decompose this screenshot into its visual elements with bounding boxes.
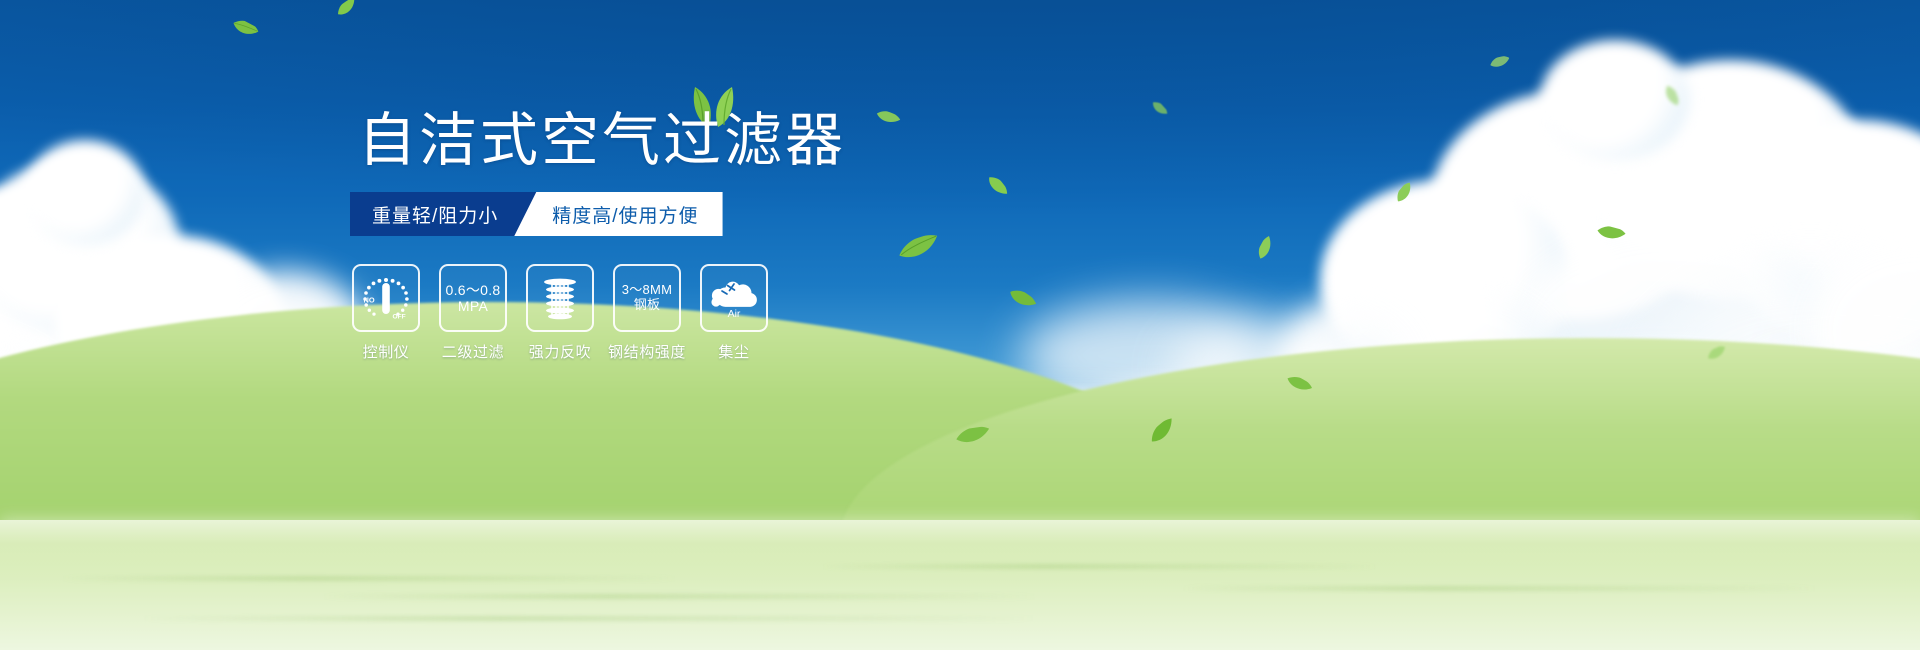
feature-list: NO OFF 控制仪 0.6～0.8 MPA 二级过滤 bbox=[352, 264, 768, 362]
feature-item-dust-collection[interactable]: Air 集尘 bbox=[700, 264, 768, 362]
subtitle-tab-group: 重量轻/阻力小 精度高/使用方便 bbox=[350, 192, 723, 236]
feature-item-controller[interactable]: NO OFF 控制仪 bbox=[352, 264, 420, 362]
hero-banner: 自洁式空气过滤器 重量轻/阻力小 精度高/使用方便 bbox=[0, 0, 1920, 650]
feature-item-two-stage-filter[interactable]: 0.6～0.8 MPA 二级过滤 bbox=[439, 264, 507, 362]
feature-label: 二级过滤 bbox=[442, 341, 504, 362]
feature-icon-box: 0.6～0.8 MPA bbox=[439, 264, 507, 332]
feature-icon-box bbox=[526, 264, 594, 332]
power-dial-icon: NO OFF bbox=[361, 274, 411, 322]
pressure-text-icon: 0.6～0.8 MPA bbox=[445, 282, 500, 314]
cloud-air-icon: Air bbox=[707, 275, 761, 321]
pressure-unit: MPA bbox=[445, 298, 500, 314]
feature-icon-box: Air bbox=[700, 264, 768, 332]
steel-plate-text-icon: 3～8MM 钢板 bbox=[622, 283, 673, 313]
tab-precision-convenience[interactable]: 精度高/使用方便 bbox=[514, 192, 722, 236]
feature-icon-box: 3～8MM 钢板 bbox=[613, 264, 681, 332]
steel-material: 钢板 bbox=[622, 298, 673, 313]
svg-text:OFF: OFF bbox=[393, 314, 406, 321]
feature-label: 钢结构强度 bbox=[608, 341, 686, 362]
feature-item-steel-strength[interactable]: 3～8MM 钢板 钢结构强度 bbox=[613, 264, 681, 362]
feature-icon-box: NO OFF bbox=[352, 264, 420, 332]
svg-text:NO: NO bbox=[364, 296, 375, 305]
tab-weight-resistance[interactable]: 重量轻/阻力小 bbox=[350, 192, 538, 236]
pleated-filter-icon bbox=[537, 274, 583, 322]
svg-text:Air: Air bbox=[728, 308, 741, 320]
feature-label: 强力反吹 bbox=[529, 341, 591, 362]
banner-content: 自洁式空气过滤器 重量轻/阻力小 精度高/使用方便 bbox=[350, 0, 1090, 650]
steel-thickness: 3～8MM bbox=[622, 283, 673, 298]
page-title: 自洁式空气过滤器 bbox=[358, 112, 846, 170]
feature-label: 集尘 bbox=[718, 341, 749, 362]
feature-item-pulse-jet[interactable]: 强力反吹 bbox=[526, 264, 594, 362]
feature-label: 控制仪 bbox=[363, 341, 410, 362]
pressure-range: 0.6～0.8 bbox=[445, 282, 500, 298]
